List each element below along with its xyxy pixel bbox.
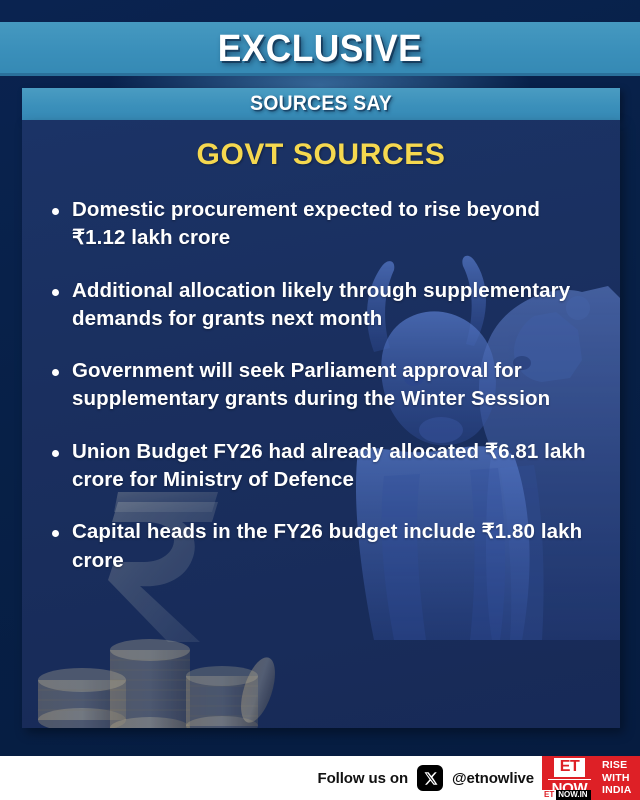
exclusive-banner: EXCLUSIVE (0, 22, 640, 76)
bullet-dot-icon (52, 208, 59, 215)
logo-et-text: ET (554, 758, 585, 777)
bullet-dot-icon (52, 450, 59, 457)
etnow-logo[interactable]: ET NOW ET NOW.IN RISE WITH INDIA (542, 756, 640, 800)
list-item-label: Domestic procurement expected to rise be… (72, 196, 596, 253)
bullet-dot-icon (52, 369, 59, 376)
follow-us-group: Follow us on @etnowlive (318, 765, 534, 791)
social-handle[interactable]: @etnowlive (452, 770, 534, 787)
bullet-dot-icon (52, 289, 59, 296)
list-item: Union Budget FY26 had already allocated … (44, 438, 596, 495)
sources-say-banner: SOURCES SAY (22, 88, 620, 120)
tagline-line-1: RISE (602, 759, 627, 771)
list-item-label: Capital heads in the FY26 budget include… (72, 518, 596, 575)
list-item: Domestic procurement expected to rise be… (44, 196, 596, 253)
list-item: Additional allocation likely through sup… (44, 277, 596, 334)
list-item: Government will seek Parliament approval… (44, 357, 596, 414)
list-item-label: Union Budget FY26 had already allocated … (72, 438, 596, 495)
page-title: GOVT SOURCES (22, 138, 620, 172)
list-item-label: Additional allocation likely through sup… (72, 277, 596, 334)
coin-stacks (38, 639, 282, 728)
bullet-list: Domestic procurement expected to rise be… (22, 196, 620, 575)
list-item: Capital heads in the FY26 budget include… (44, 518, 596, 575)
news-card: EXCLUSIVE SOURCES SAY (0, 0, 640, 800)
x-twitter-icon[interactable] (417, 765, 443, 791)
content-panel: GOVT SOURCES Domestic procurement expect… (22, 120, 620, 728)
tagline-line-3: INDIA (602, 784, 632, 796)
tagline-line-2: WITH (602, 772, 630, 784)
follow-us-label: Follow us on (318, 770, 408, 787)
list-item-label: Government will seek Parliament approval… (72, 357, 596, 414)
bullet-dot-icon (52, 530, 59, 537)
sources-say-label: SOURCES SAY (250, 92, 392, 116)
logo-domain-nowin: NOW.IN (556, 790, 590, 800)
etnow-logo-mark: ET NOW ET NOW.IN (542, 756, 597, 800)
footer-bar: Follow us on @etnowlive ET NOW ET NOW.IN… (0, 756, 640, 800)
logo-domain: ET NOW.IN (542, 790, 591, 800)
exclusive-label: EXCLUSIVE (218, 28, 422, 71)
logo-domain-et: ET (542, 790, 556, 800)
logo-tagline: RISE WITH INDIA (597, 756, 640, 800)
